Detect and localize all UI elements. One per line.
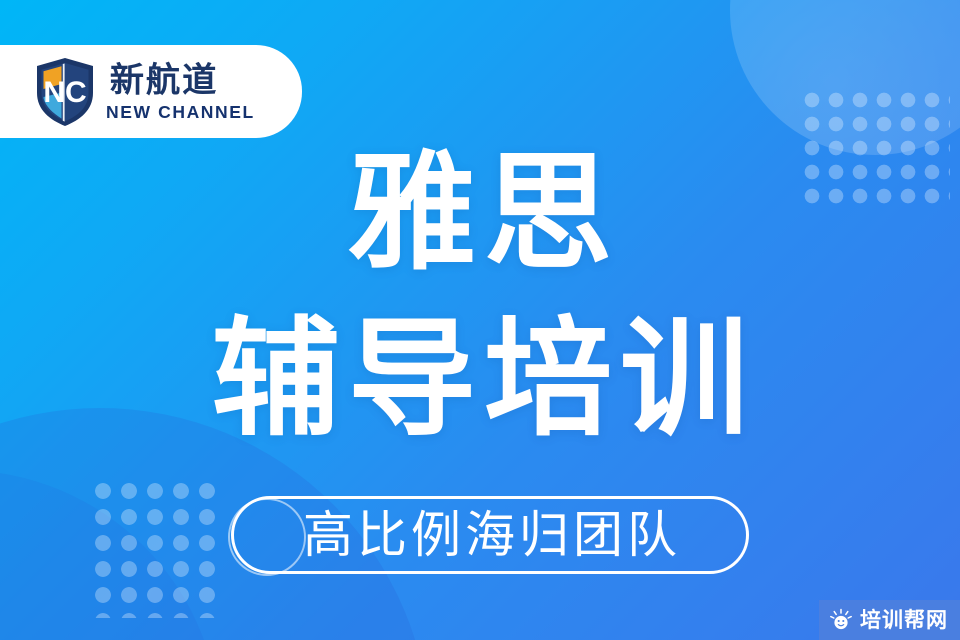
dot-grid-bottom-left <box>90 478 220 618</box>
headline-line-2: 辅导培训 <box>0 316 960 444</box>
watermark: 培训帮网 <box>819 600 960 640</box>
svg-text:新航道: 新航道 <box>110 60 219 99</box>
promo-poster: NC 新航道 NEW CHANNEL 雅思 辅导培训 高比例海归团队 <box>0 0 960 640</box>
sun-face-icon <box>829 608 853 632</box>
headline: 雅思 辅导培训 <box>0 150 960 444</box>
brand-name-en: NEW CHANNEL <box>106 102 264 123</box>
brand-name-cn-icon: 新航道 <box>106 60 264 100</box>
circle-decoration-top-right <box>730 0 960 155</box>
brand-logo-panel: NC 新航道 NEW CHANNEL <box>0 45 302 138</box>
subtitle-pill: 高比例海归团队 <box>231 496 749 574</box>
shield-nc-icon: NC <box>34 57 96 127</box>
blob-decoration-bottom-left-inner <box>0 470 220 640</box>
watermark-text: 培训帮网 <box>860 610 948 631</box>
headline-line-1: 雅思 <box>0 150 960 278</box>
subtitle-text: 高比例海归团队 <box>299 510 681 560</box>
brand-logo-text: 新航道 NEW CHANNEL <box>106 60 264 123</box>
svg-text:NC: NC <box>43 76 86 109</box>
